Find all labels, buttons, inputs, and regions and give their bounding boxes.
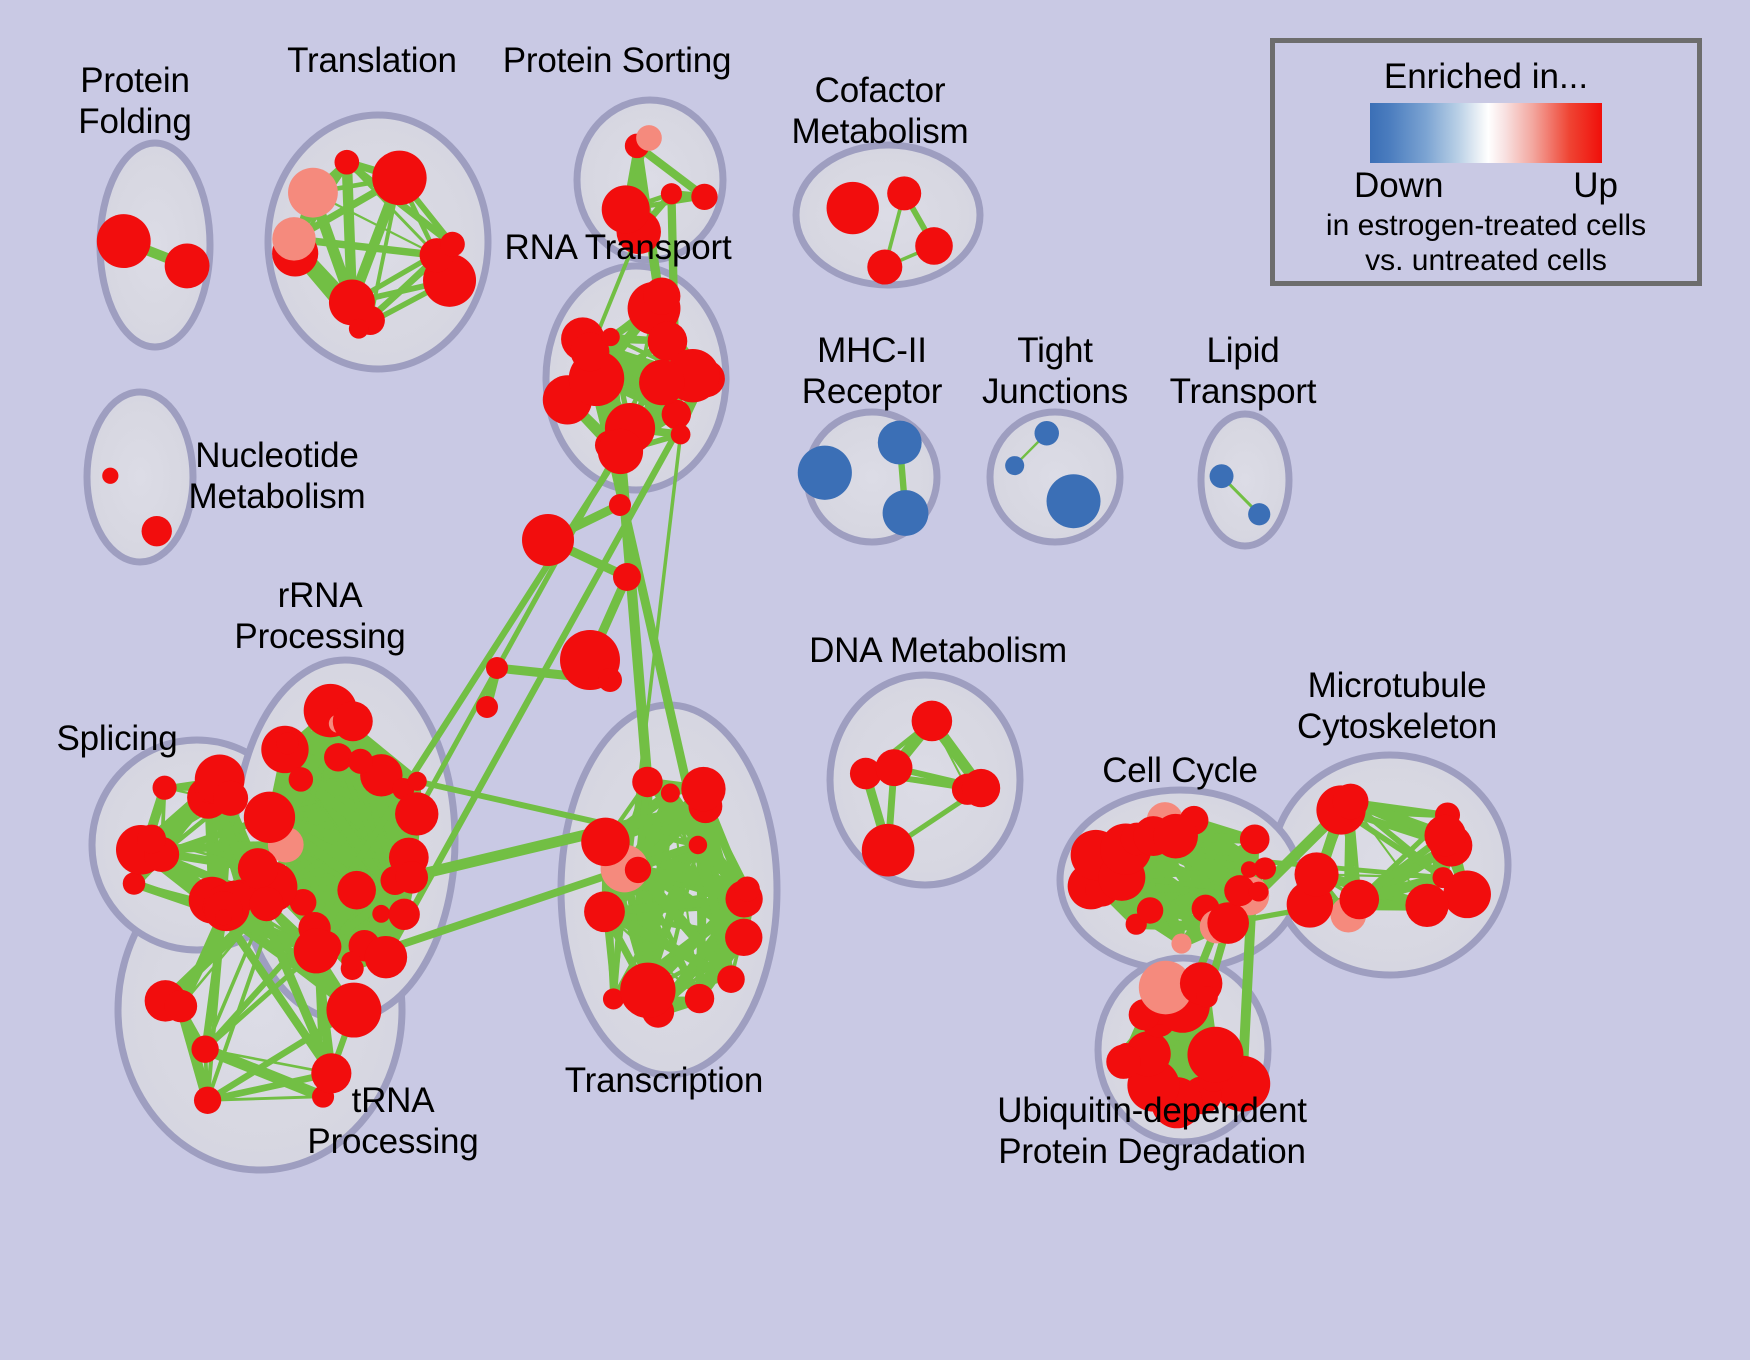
network-node	[689, 836, 707, 854]
network-node	[1240, 825, 1270, 855]
legend-subtitle: in estrogen-treated cells vs. untreated …	[1326, 208, 1646, 278]
network-node	[915, 227, 953, 265]
network-node	[335, 150, 360, 175]
network-node	[272, 217, 315, 260]
network-node	[1339, 880, 1379, 920]
network-node	[289, 767, 313, 791]
network-node	[636, 125, 662, 151]
cluster-label-cell-cycle: Cell Cycle	[1102, 750, 1258, 791]
network-node	[137, 825, 166, 854]
cluster-label-lipid-transport: Lipid Transport	[1170, 330, 1317, 412]
network-node	[153, 776, 177, 800]
legend-color-bar	[1370, 103, 1602, 163]
network-node	[194, 1087, 221, 1114]
network-node	[324, 743, 352, 771]
network-node	[191, 1036, 218, 1063]
legend-subtitle-line2: vs. untreated cells	[1326, 243, 1646, 278]
legend-subtitle-line1: in estrogen-treated cells	[1326, 208, 1646, 243]
network-node	[862, 824, 915, 877]
network-node	[396, 861, 428, 893]
network-node	[883, 490, 929, 536]
network-node	[1210, 464, 1234, 488]
network-node	[661, 183, 682, 204]
network-node	[878, 421, 922, 465]
network-node	[867, 250, 902, 285]
network-node	[671, 425, 691, 445]
network-node	[584, 891, 625, 932]
network-node	[372, 905, 390, 923]
network-node	[277, 733, 299, 755]
network-node	[798, 446, 852, 500]
network-node	[249, 887, 283, 921]
network-node	[1106, 1045, 1140, 1079]
network-node	[1405, 884, 1448, 927]
network-node	[691, 184, 717, 210]
cluster-label-nucleotide-metabolism: Nucleotide Metabolism	[189, 435, 366, 517]
cluster-label-transcription: Transcription	[565, 1060, 763, 1101]
network-node	[1196, 986, 1218, 1008]
network-node	[643, 277, 680, 314]
legend-end-labels: Down Up	[1354, 165, 1618, 207]
network-node	[372, 151, 426, 205]
network-node	[1153, 814, 1198, 859]
network-node	[613, 563, 641, 591]
network-node	[165, 990, 198, 1023]
network-node	[329, 279, 375, 325]
network-node	[388, 899, 419, 930]
network-node	[326, 983, 381, 1038]
network-node	[1333, 784, 1369, 820]
cluster-label-trna-processing: tRNA Processing	[307, 1080, 478, 1162]
cluster-label-protein-sorting: Protein Sorting	[503, 40, 732, 81]
network-node	[333, 701, 373, 741]
network-node	[1207, 902, 1249, 944]
network-node	[102, 468, 118, 484]
cluster-label-dna-metabolism: DNA Metabolism	[809, 630, 1067, 671]
network-node	[661, 784, 680, 803]
network-node	[876, 749, 913, 786]
network-node	[717, 965, 745, 993]
cluster-label-rrna-processing: rRNA Processing	[234, 575, 405, 657]
network-node	[348, 749, 373, 774]
network-node	[408, 772, 427, 791]
cluster-label-tight-junctions: Tight Junctions	[982, 330, 1128, 412]
network-node	[486, 657, 508, 679]
network-figure: Protein Folding Translation Protein Sort…	[0, 0, 1750, 1360]
cluster-label-protein-folding: Protein Folding	[78, 60, 191, 142]
network-node	[97, 214, 151, 268]
network-node	[685, 984, 714, 1013]
network-node	[1249, 882, 1269, 902]
network-node	[887, 176, 921, 210]
network-node	[620, 963, 675, 1018]
network-node	[1241, 861, 1258, 878]
network-node	[827, 182, 879, 234]
network-node	[1433, 867, 1454, 888]
network-node	[142, 516, 172, 546]
network-node	[349, 319, 369, 339]
network-node	[213, 781, 248, 816]
cluster-label-cofactor-metabolism: Cofactor Metabolism	[792, 70, 969, 152]
network-node	[215, 909, 231, 925]
network-node	[725, 919, 762, 956]
network-node	[1248, 503, 1270, 525]
network-node	[1424, 815, 1466, 857]
network-node	[912, 701, 953, 742]
network-node	[625, 857, 651, 883]
network-node	[962, 769, 1000, 807]
cluster-label-splicing: Splicing	[57, 718, 178, 759]
network-node	[632, 767, 663, 798]
network-node	[1035, 421, 1059, 445]
cluster-label-rna-transport: RNA Transport	[505, 227, 732, 268]
network-node	[1005, 456, 1024, 475]
network-node	[1294, 852, 1338, 896]
network-node	[1171, 934, 1191, 954]
network-node	[581, 818, 629, 866]
legend-low-label: Down	[1354, 165, 1443, 207]
network-node	[598, 668, 622, 692]
network-node	[476, 696, 498, 718]
legend-high-label: Up	[1573, 165, 1618, 207]
cluster-label-mhc-ii-receptor: MHC-II Receptor	[802, 330, 942, 412]
network-node	[123, 872, 146, 895]
network-node	[602, 328, 620, 346]
legend-title: Enriched in...	[1384, 57, 1588, 97]
network-node	[598, 429, 643, 474]
network-node	[609, 494, 631, 516]
network-node	[1187, 1027, 1243, 1083]
network-node	[1137, 897, 1163, 923]
network-node	[165, 243, 210, 288]
network-node	[681, 767, 725, 811]
legend-box: Enriched in... Down Up in estrogen-treat…	[1270, 38, 1702, 286]
network-node	[288, 168, 338, 218]
cluster-label-microtubule-cytoskeleton: Microtubule Cytoskeleton	[1297, 665, 1497, 747]
network-node	[294, 928, 339, 973]
network-node	[337, 871, 376, 910]
cluster-label-ubiquitin-degradation: Ubiquitin-dependent Protein Degradation	[997, 1090, 1307, 1172]
network-node	[341, 952, 361, 972]
network-node	[735, 876, 760, 901]
network-node	[522, 514, 574, 566]
network-node	[1047, 474, 1101, 528]
network-node	[440, 232, 465, 257]
network-edge	[698, 845, 700, 999]
network-node	[244, 792, 295, 843]
network-node	[639, 360, 685, 406]
cluster-label-translation: Translation	[287, 40, 457, 81]
network-node	[365, 936, 407, 978]
network-node	[395, 792, 438, 835]
